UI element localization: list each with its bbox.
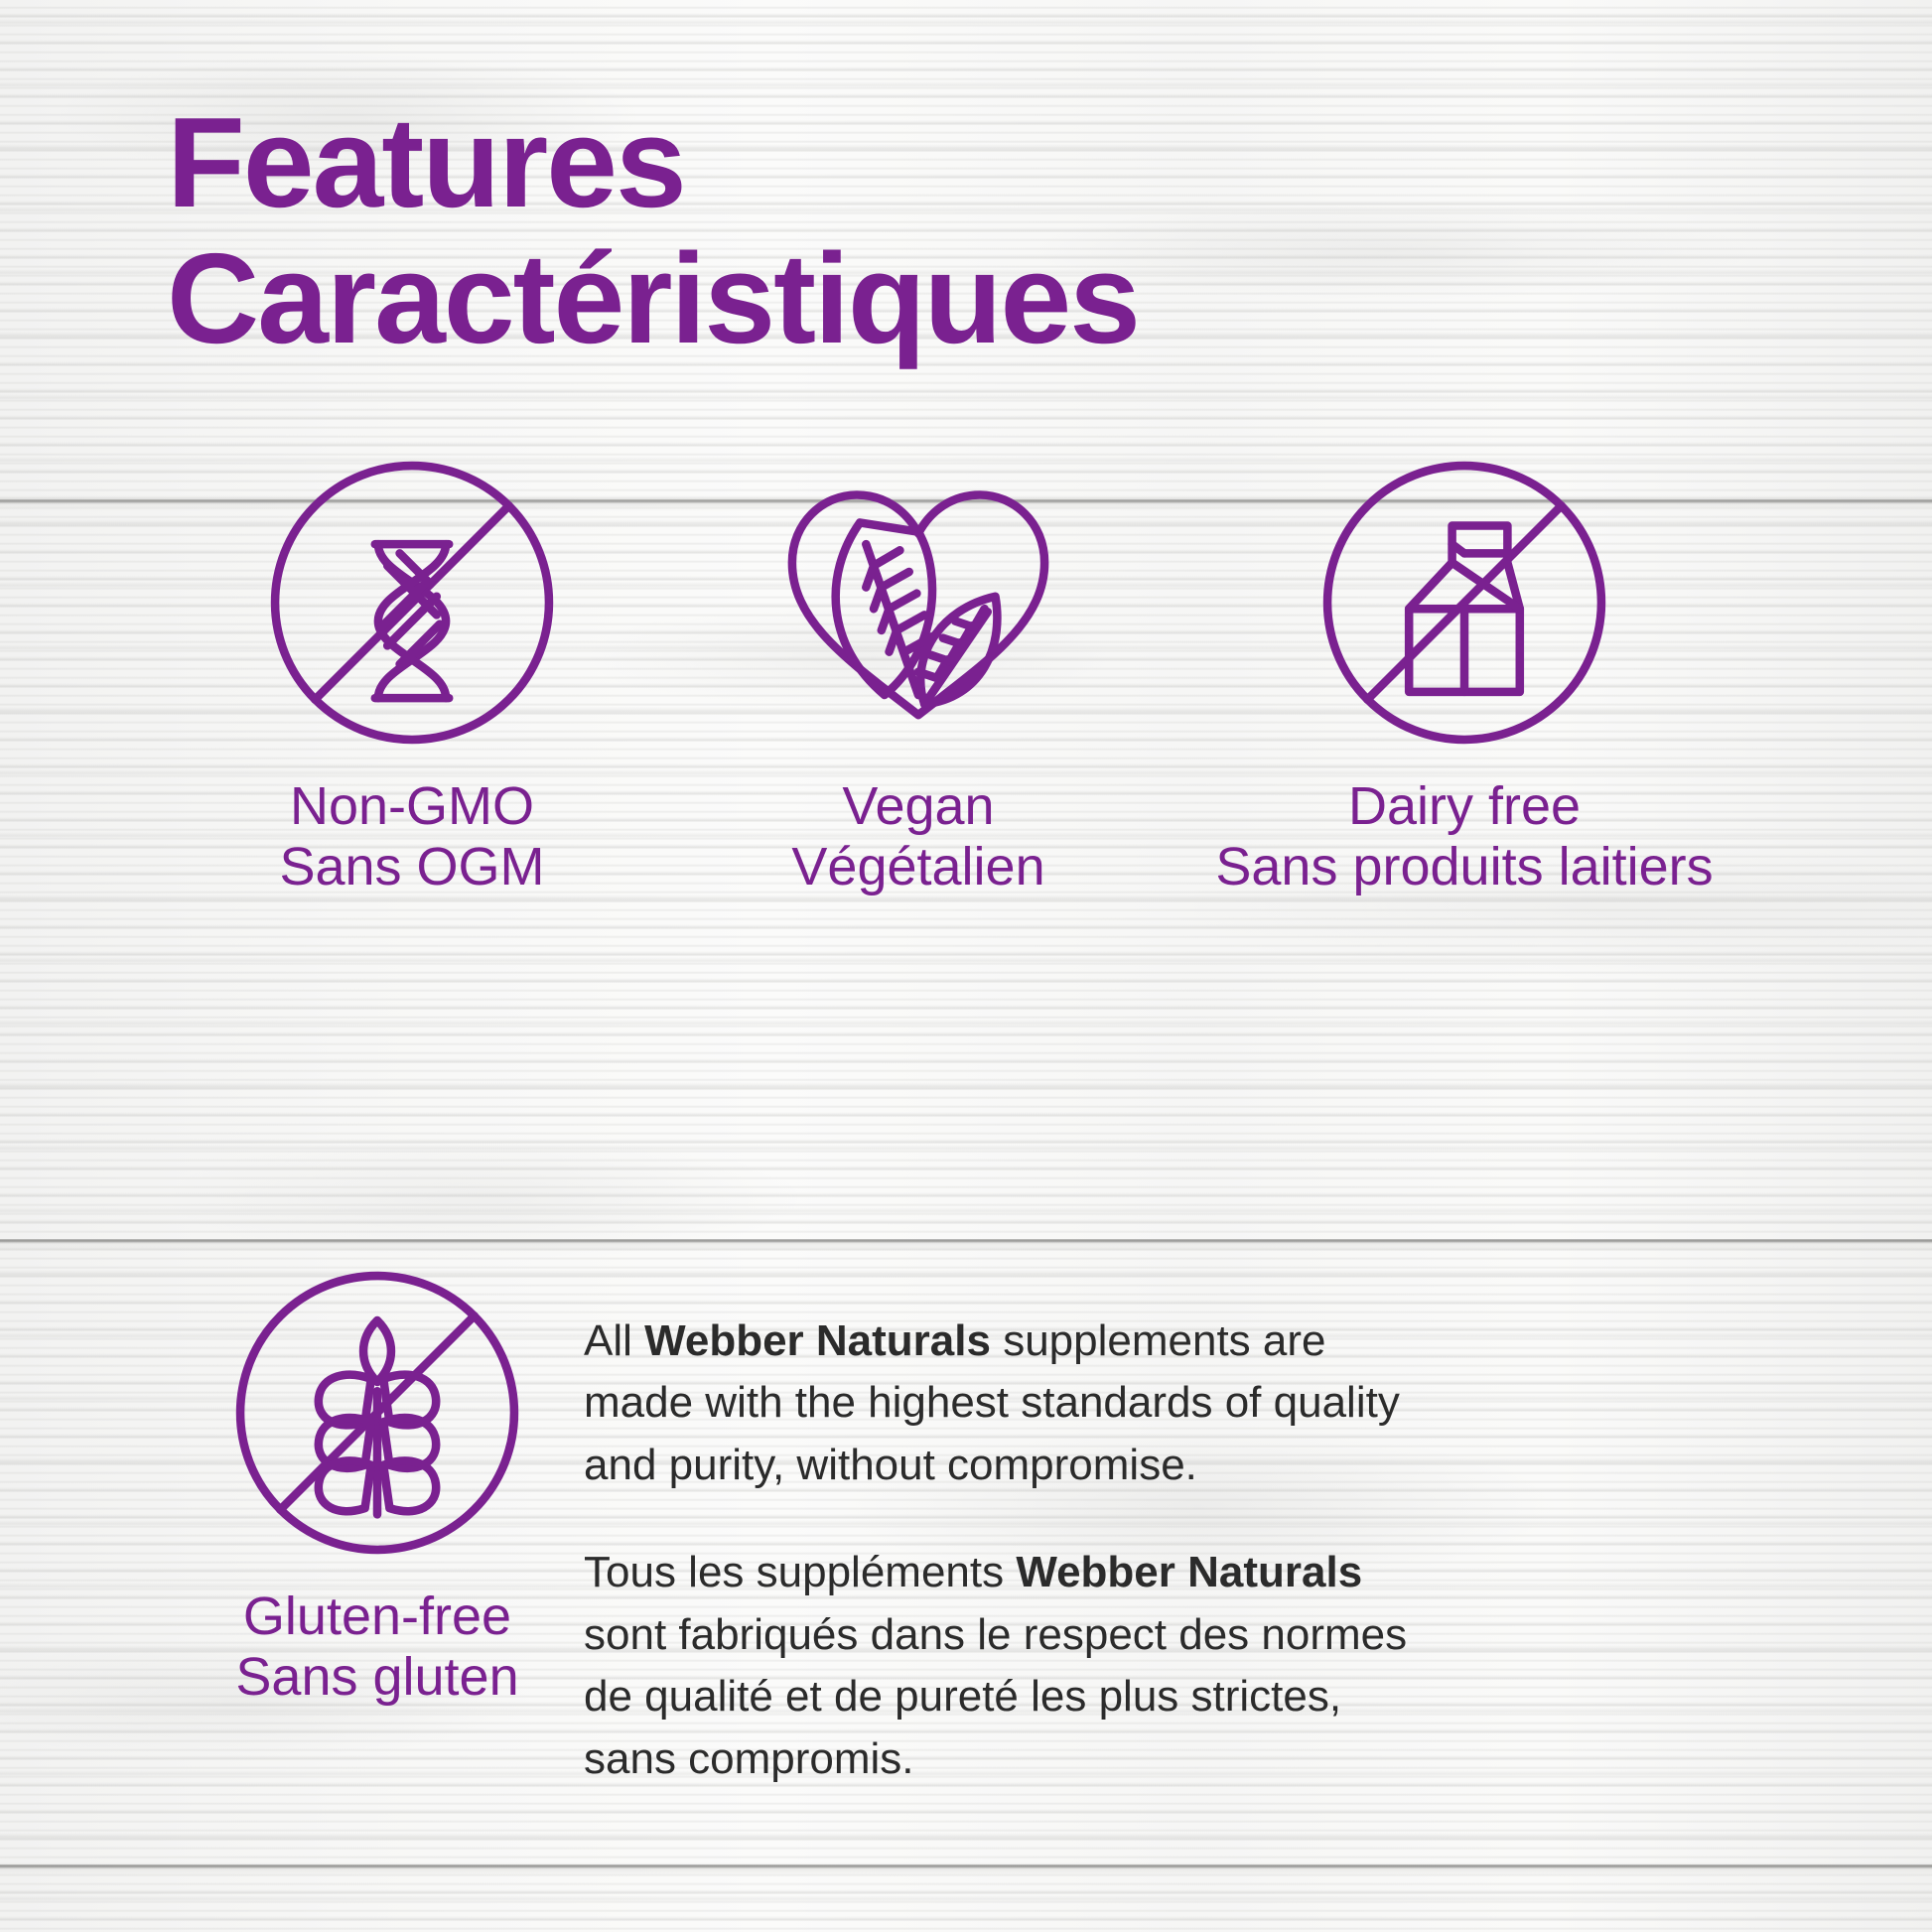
feature-non-gmo: Non-GMO Sans OGM [119,449,705,897]
feature-dairy-free: Dairy free Sans produits laitiers [1102,449,1827,897]
feature-gluten-free-label-fr: Sans gluten [235,1647,518,1708]
features-panel: Features Caractéristiques Non-GMO San [0,0,1932,1932]
feature-non-gmo-label-en: Non-GMO [290,776,534,836]
plank-divider-2 [0,1239,1932,1244]
body-copy-fr-after: sont fabriqués dans le respect des norme… [584,1610,1407,1783]
vegan-heart-leaves-icon [764,449,1072,757]
feature-gluten-free-labels: Gluten-free Sans gluten [235,1587,518,1708]
body-copy-en-brand: Webber Naturals [644,1316,991,1365]
feature-gluten-free-label-en: Gluten-free [243,1587,511,1646]
feature-dairy-free-label-en: Dairy free [1348,776,1581,836]
body-copy: All Webber Naturals supplements are made… [584,1311,1438,1790]
feature-vegan-label-en: Vegan [842,776,994,836]
body-copy-fr-before: Tous les suppléments [584,1548,1016,1596]
feature-gluten-free: Gluten-free Sans gluten [99,1259,655,1708]
page-title: Features Caractéristiques [167,95,1557,366]
page-title-fr: Caractéristiques [167,231,1557,367]
body-copy-en-before: All [584,1316,644,1365]
feature-dairy-free-labels: Dairy free Sans produits laitiers [1215,776,1713,897]
page-title-en: Features [167,95,1557,231]
no-gmo-dna-icon [258,449,566,757]
feature-non-gmo-labels: Non-GMO Sans OGM [279,776,544,897]
feature-vegan-labels: Vegan Végétalien [791,776,1044,897]
body-copy-fr: Tous les suppléments Webber Naturals son… [584,1542,1438,1790]
body-copy-en: All Webber Naturals supplements are made… [584,1311,1438,1496]
body-copy-fr-brand: Webber Naturals [1016,1548,1362,1596]
feature-vegan-label-fr: Végétalien [791,837,1044,897]
feature-non-gmo-label-fr: Sans OGM [279,837,544,897]
gluten-free-wheat-icon [223,1259,531,1567]
plank-divider-3 [0,1864,1932,1869]
no-dairy-milk-carton-icon [1311,449,1618,757]
feature-dairy-free-label-fr: Sans produits laitiers [1215,837,1713,897]
